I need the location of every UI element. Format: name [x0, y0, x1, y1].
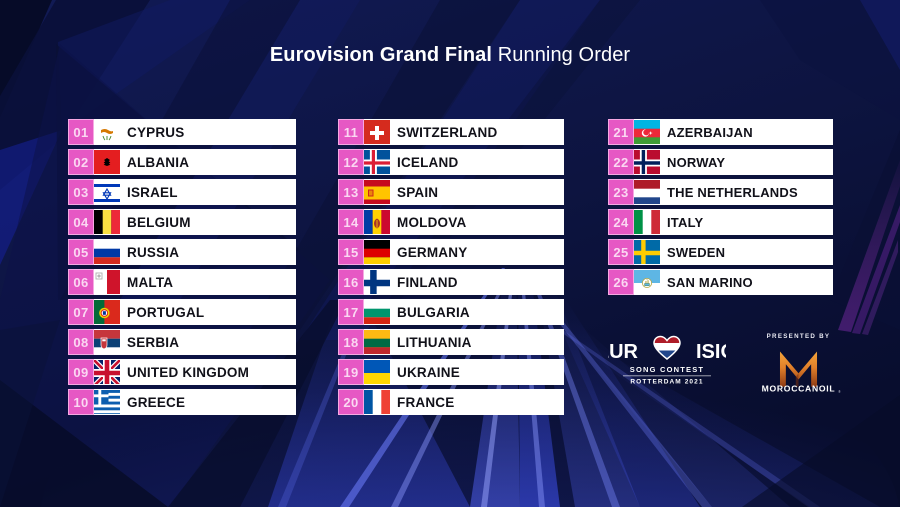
running-order-number: 05 [68, 239, 94, 265]
svg-text:ROTTERDAM 2021: ROTTERDAM 2021 [630, 379, 703, 386]
malta-flag [94, 269, 120, 295]
running-order-row[interactable]: 25 SWEDEN [608, 239, 833, 265]
country-name: UNITED KINGDOM [120, 359, 296, 385]
running-order-number: 03 [68, 179, 94, 205]
page-title-regular: Running Order [492, 44, 630, 66]
running-order-row[interactable]: 15 GERMANY [338, 239, 564, 265]
country-name: UKRAINE [390, 359, 564, 385]
spain-flag [364, 179, 390, 205]
running-order-number: 11 [338, 119, 364, 145]
running-order-number: 21 [608, 119, 634, 145]
running-order-row[interactable]: 24 ITALY [608, 209, 833, 235]
france-flag [364, 389, 390, 415]
country-name: ISRAEL [120, 179, 296, 205]
country-name: GERMANY [390, 239, 564, 265]
running-order-row[interactable]: 05 RUSSIA [68, 239, 296, 265]
running-order-row[interactable]: 19 UKRAINE [338, 359, 564, 385]
country-name: MOLDOVA [390, 209, 564, 235]
running-order-number: 18 [338, 329, 364, 355]
country-name: SERBIA [120, 329, 296, 355]
running-order-row[interactable]: 16 FINLAND [338, 269, 564, 295]
country-name: THE NETHERLANDS [660, 179, 833, 205]
norway-flag [634, 149, 660, 175]
running-order-number: 16 [338, 269, 364, 295]
running-order-number: 12 [338, 149, 364, 175]
moldova-flag [364, 209, 390, 235]
running-order-row[interactable]: 21 AZERBAIJAN [608, 119, 833, 145]
country-name: SWEDEN [660, 239, 833, 265]
running-order-number: 02 [68, 149, 94, 175]
running-order-row[interactable]: 06 MALTA [68, 269, 296, 295]
country-name: MALTA [120, 269, 296, 295]
country-name: SPAIN [390, 179, 564, 205]
country-name: NORWAY [660, 149, 833, 175]
sweden-flag [634, 239, 660, 265]
azerbaijan-flag [634, 119, 660, 145]
svg-text:ISION: ISION [696, 341, 726, 363]
running-order-row[interactable]: 10 GREECE [68, 389, 296, 415]
israel-flag [94, 179, 120, 205]
country-name: PORTUGAL [120, 299, 296, 325]
united-kingdom-flag [94, 359, 120, 385]
running-order-row[interactable]: 26 SAN MARINO [608, 269, 833, 295]
country-name: BELGIUM [120, 209, 296, 235]
moroccanoil-mark: MOROCCANOIL ® [746, 338, 851, 394]
svg-text:EUR: EUR [608, 341, 639, 363]
running-order-row[interactable]: 01 CYPRUS [68, 119, 296, 145]
page-title-bold: Eurovision Grand Final [270, 44, 492, 66]
san-marino-flag [634, 269, 660, 295]
running-order-number: 14 [338, 209, 364, 235]
bulgaria-flag [364, 299, 390, 325]
running-order-number: 20 [338, 389, 364, 415]
albania-flag [94, 149, 120, 175]
country-name: CYPRUS [120, 119, 296, 145]
running-order-row[interactable]: 07 PORTUGAL [68, 299, 296, 325]
country-name: ALBANIA [120, 149, 296, 175]
running-order-number: 04 [68, 209, 94, 235]
switzerland-flag [364, 119, 390, 145]
country-name: AZERBAIJAN [660, 119, 833, 145]
iceland-flag [364, 149, 390, 175]
running-order-number: 07 [68, 299, 94, 325]
running-order-row[interactable]: 11 SWITZERLAND [338, 119, 564, 145]
country-name: FRANCE [390, 389, 564, 415]
belgium-flag [94, 209, 120, 235]
running-order-row[interactable]: 09 UNITED KINGDOM [68, 359, 296, 385]
country-name: ITALY [660, 209, 833, 235]
running-order-row[interactable]: 23 THE NETHERLANDS [608, 179, 833, 205]
running-order-column-1: 01 CYPRUS02 ALBANIA03 ISRAEL04 BELGIUM05… [68, 119, 296, 415]
running-order-number: 13 [338, 179, 364, 205]
running-order-row[interactable]: 20 FRANCE [338, 389, 564, 415]
running-order-row[interactable]: 13 SPAIN [338, 179, 564, 205]
serbia-flag [94, 329, 120, 355]
running-order-row[interactable]: 22 NORWAY [608, 149, 833, 175]
cyprus-flag [94, 119, 120, 145]
ukraine-flag [364, 359, 390, 385]
italy-flag [634, 209, 660, 235]
country-name: ICELAND [390, 149, 564, 175]
running-order-number: 08 [68, 329, 94, 355]
netherlands-flag [634, 179, 660, 205]
running-order-row[interactable]: 02 ALBANIA [68, 149, 296, 175]
country-name: FINLAND [390, 269, 564, 295]
running-order-number: 22 [608, 149, 634, 175]
running-order-row[interactable]: 17 BULGARIA [338, 299, 564, 325]
country-name: SAN MARINO [660, 269, 833, 295]
portugal-flag [94, 299, 120, 325]
sponsor-logo: PRESENTED BY MOROCCANOIL ® [746, 330, 851, 392]
running-order-number: 06 [68, 269, 94, 295]
running-order-column-3: 21 AZERBAIJAN22 NORWAY23 THE NETHERLANDS… [608, 119, 833, 295]
running-order-number: 25 [608, 239, 634, 265]
country-name: LITHUANIA [390, 329, 564, 355]
eurovision-logo: EURISIONSONG CONTESTROTTERDAM 2021 [608, 334, 726, 390]
running-order-row[interactable]: 03 ISRAEL [68, 179, 296, 205]
germany-flag [364, 239, 390, 265]
svg-text:MOROCCANOIL: MOROCCANOIL [762, 383, 836, 393]
running-order-number: 17 [338, 299, 364, 325]
country-name: SWITZERLAND [390, 119, 564, 145]
country-name: GREECE [120, 389, 296, 415]
running-order-number: 19 [338, 359, 364, 385]
country-name: RUSSIA [120, 239, 296, 265]
finland-flag [364, 269, 390, 295]
running-order-number: 24 [608, 209, 634, 235]
running-order-number: 09 [68, 359, 94, 385]
running-order-number: 15 [338, 239, 364, 265]
running-order-number: 10 [68, 389, 94, 415]
svg-text:SONG CONTEST: SONG CONTEST [630, 365, 704, 374]
russia-flag [94, 239, 120, 265]
running-order-row[interactable]: 04 BELGIUM [68, 209, 296, 235]
page-title: Eurovision Grand Final Running Order [0, 44, 900, 67]
running-order-number: 01 [68, 119, 94, 145]
running-order-row[interactable]: 08 SERBIA [68, 329, 296, 355]
logo-strip: EURISIONSONG CONTESTROTTERDAM 2021 PRESE… [606, 330, 846, 392]
greece-flag [94, 389, 120, 415]
running-order-number: 23 [608, 179, 634, 205]
lithuania-flag [364, 329, 390, 355]
svg-text:®: ® [838, 390, 841, 394]
running-order-column-2: 11 SWITZERLAND12 ICELAND13 SPAIN14 MOLDO… [338, 119, 564, 415]
running-order-row[interactable]: 12 ICELAND [338, 149, 564, 175]
running-order-number: 26 [608, 269, 634, 295]
running-order-row[interactable]: 18 LITHUANIA [338, 329, 564, 355]
country-name: BULGARIA [390, 299, 564, 325]
running-order-row[interactable]: 14 MOLDOVA [338, 209, 564, 235]
